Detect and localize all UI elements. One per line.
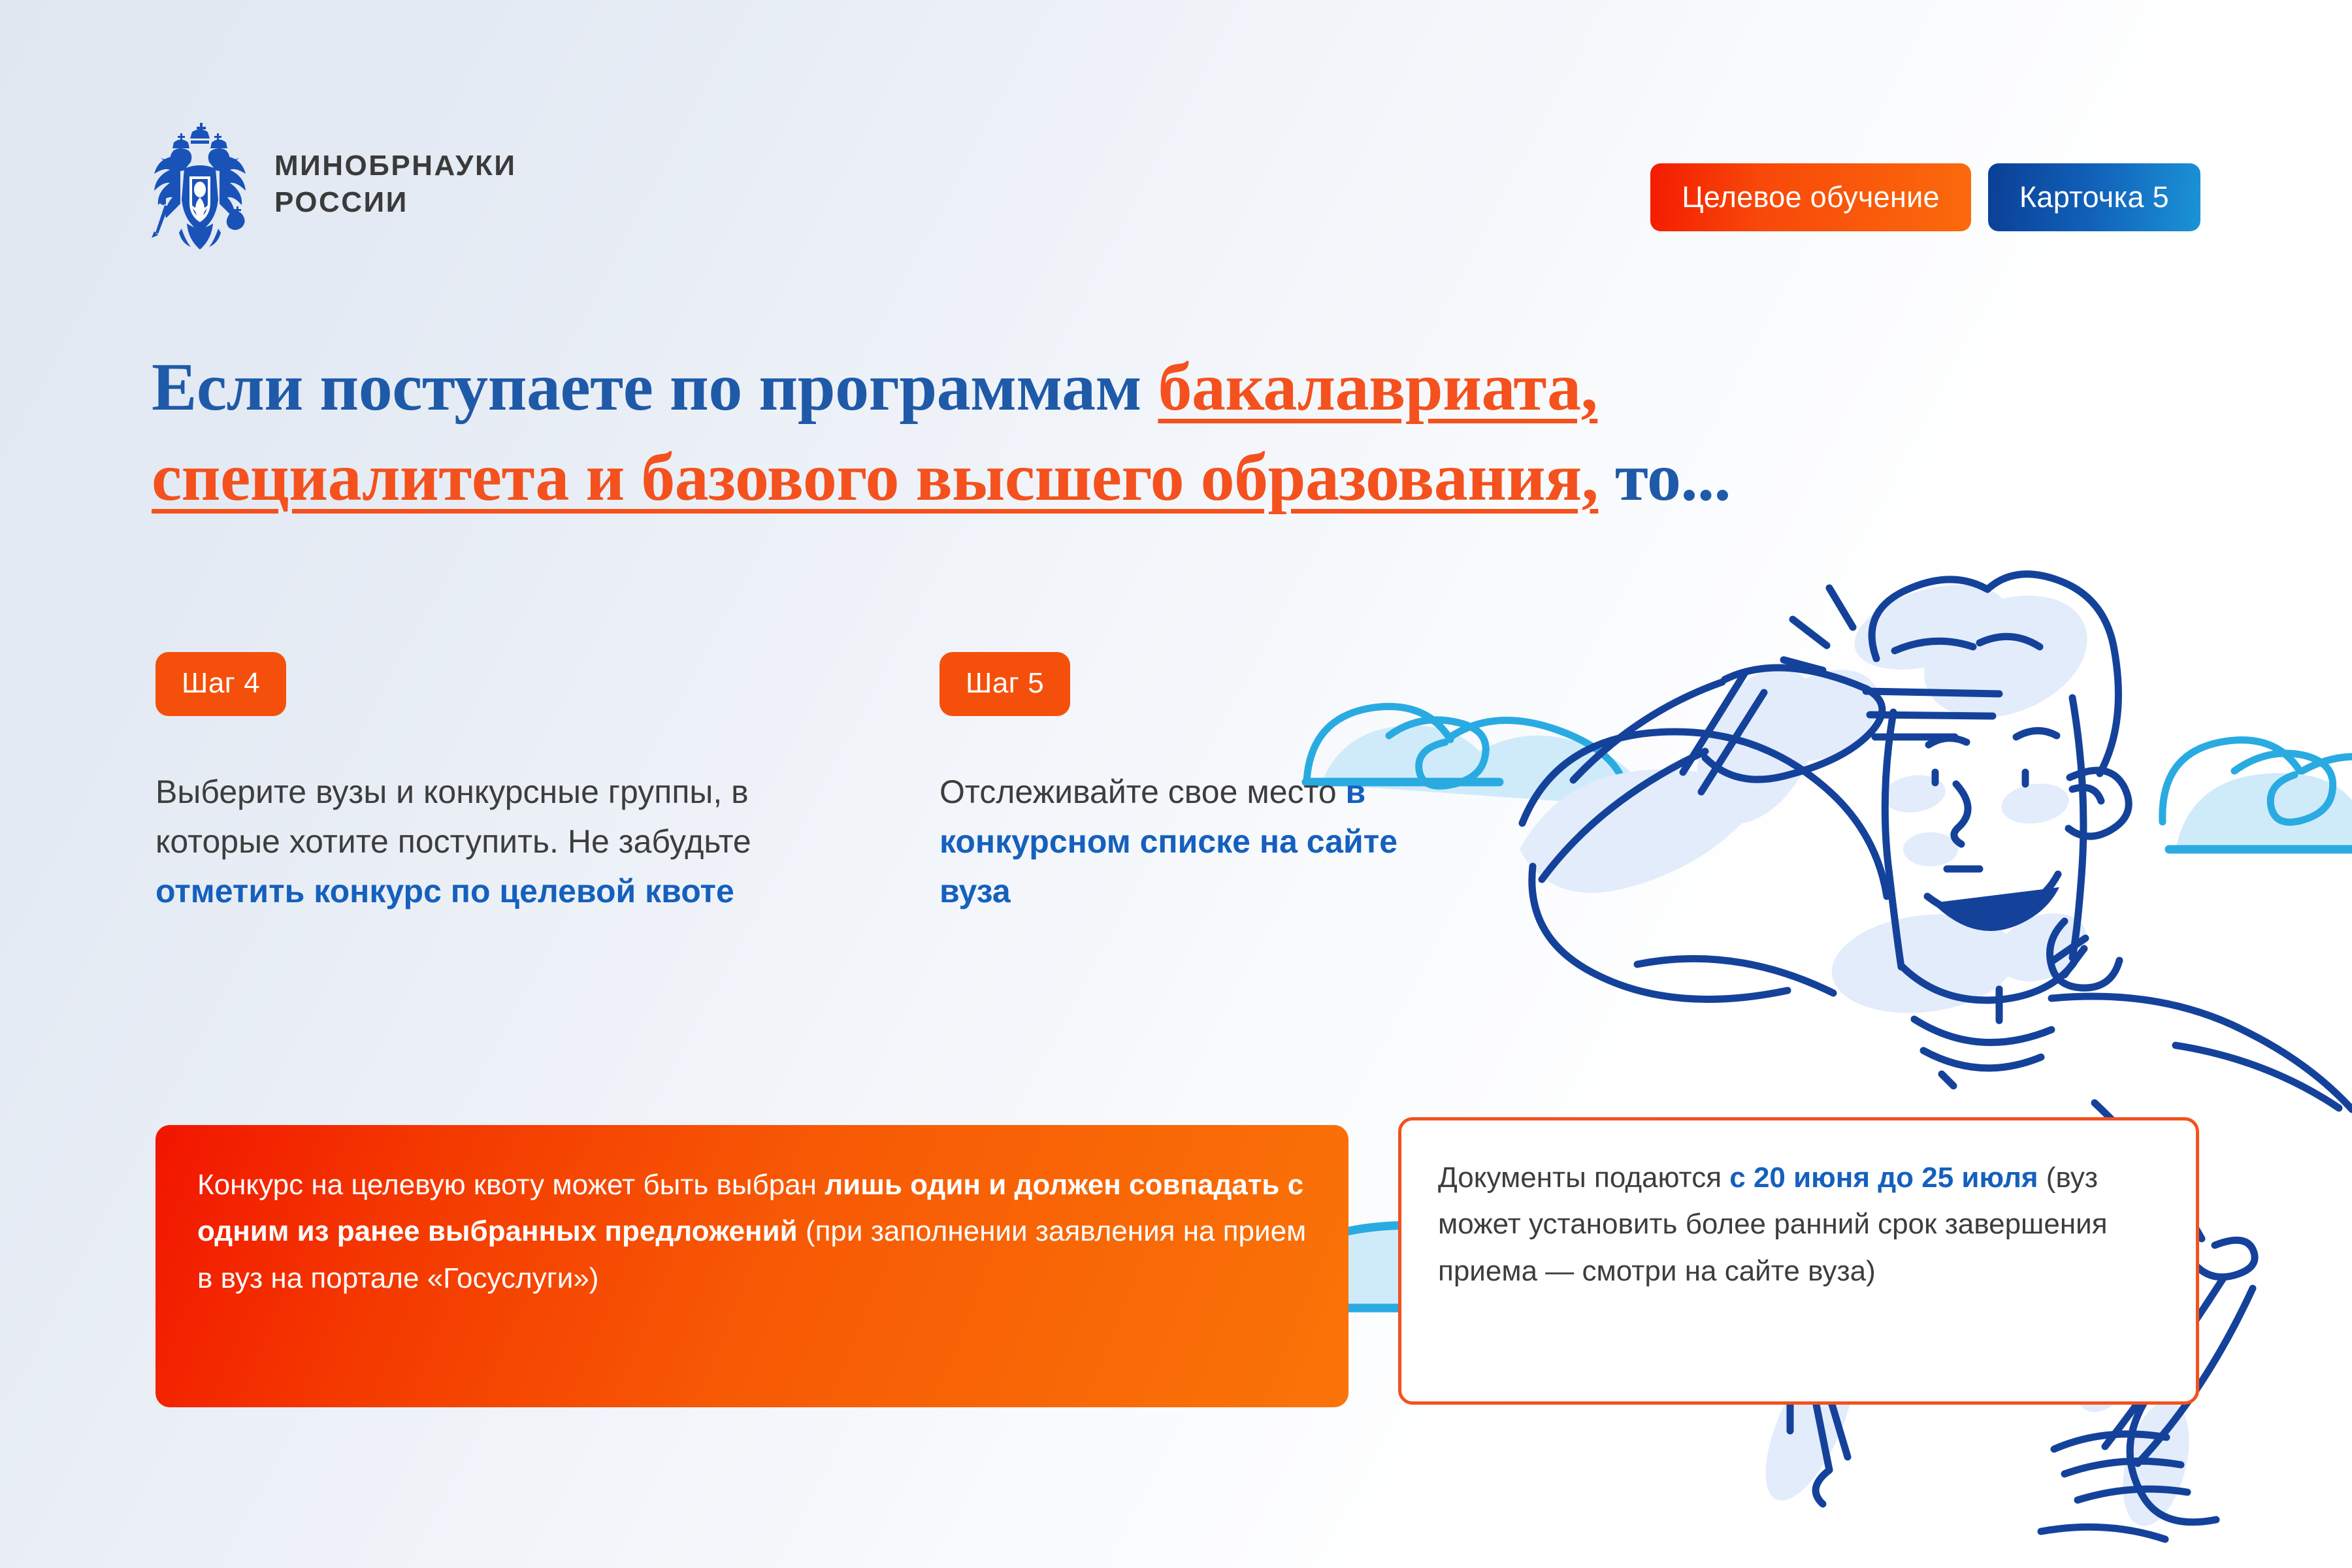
badge-card-label: Карточка 5	[2019, 180, 2169, 214]
header-badges: Целевое обучение Карточка 5	[1650, 163, 2200, 231]
step-5-text-plain: Отслеживайте свое место	[939, 774, 1346, 810]
step-4-badge-label: Шаг 4	[182, 667, 260, 699]
badge-card-number[interactable]: Карточка 5	[1988, 163, 2200, 231]
badge-topic[interactable]: Целевое обучение	[1650, 163, 1971, 231]
page-title: Если поступаете по программам бакалавриа…	[152, 342, 2216, 523]
headline-part-2: то...	[1598, 440, 1731, 515]
step-4-text-plain: Выберите вузы и конкурсные группы, в кот…	[155, 774, 751, 860]
step-5-text: Отслеживайте свое место в конкурсном спи…	[939, 767, 1436, 916]
russian-double-headed-eagle-emblem-icon	[152, 119, 248, 250]
headline-accent-2: специалитета и базового высшего образова…	[152, 440, 1598, 515]
callout-quota-rule: Конкурс на целевую квоту может быть выбр…	[155, 1125, 1348, 1407]
headline-accent-1: бакалавриата,	[1158, 350, 1597, 425]
step-4-text: Выберите вузы и конкурсные группы, в кот…	[155, 767, 874, 916]
badge-topic-label: Целевое обучение	[1682, 180, 1940, 214]
step-4-badge: Шаг 4	[155, 652, 286, 716]
ministry-name: МИНОБРНАУКИ РОССИИ	[274, 148, 516, 221]
step-5-block: Шаг 5 Отслеживайте свое место в конкурсн…	[939, 652, 1436, 916]
headline-part-1: Если поступаете по программам	[152, 350, 1158, 425]
callout-white-plain-1: Документы подаются	[1438, 1162, 1729, 1194]
step-4-block: Шаг 4 Выберите вузы и конкурсные группы,…	[155, 652, 874, 916]
step-5-badge-label: Шаг 5	[966, 667, 1044, 699]
step-5-badge: Шаг 5	[939, 652, 1070, 716]
callout-orange-plain-1: Конкурс на целевую квоту может быть выбр…	[197, 1169, 825, 1201]
callout-white-bold-dates: с 20 июня до 25 июля	[1729, 1162, 2038, 1194]
ministry-logo: МИНОБРНАУКИ РОССИИ	[152, 119, 516, 250]
callout-deadlines: Документы подаются с 20 июня до 25 июля …	[1398, 1117, 2199, 1405]
step-4-text-highlight: отметить конкурс по целевой квоте	[155, 873, 734, 909]
